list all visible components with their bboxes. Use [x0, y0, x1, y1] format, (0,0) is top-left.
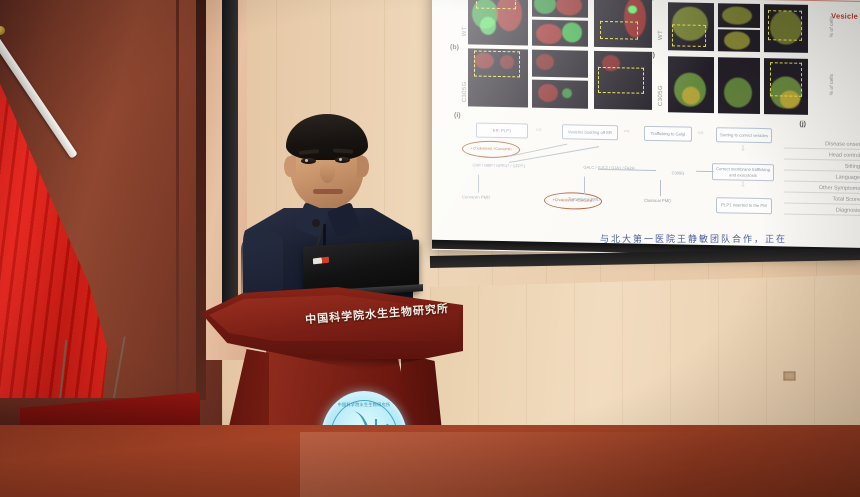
eye-left [301, 158, 316, 164]
flow-box-golgi: Trafficking to Golgi [644, 126, 692, 142]
micrograph-cell [718, 3, 760, 28]
panel-label-b: (b) [450, 44, 459, 51]
eye-glint-left [305, 159, 308, 162]
presentation-photo: (b) (c) (d) WT C305G WT C305G [0, 0, 860, 497]
flow-box-vesicles: Vesicles budding off ER [562, 124, 618, 140]
slide-caption-chinese: 与北大第一医院王静敏团队合作，正在 [600, 232, 787, 245]
ear-left [284, 156, 296, 177]
floor-reflection [300, 432, 860, 497]
axis-label-left: % of cells [829, 16, 835, 38]
gene-set-1: CNP / MBP / GPR37 / GFPT1 [466, 162, 532, 168]
gene-set-3: C305G [660, 170, 696, 176]
micrograph-cell [668, 2, 714, 51]
panel-label-j: (j) [799, 121, 806, 128]
wall-outlet [783, 371, 796, 381]
panel-label-i: (i) [454, 112, 461, 119]
outcome-classical-pmd: Classical PMD [644, 198, 671, 204]
laptop-logo [313, 257, 329, 265]
axis-label-right: % of cells [829, 74, 835, 96]
flow-arrow-icon: ⇨ [624, 128, 630, 135]
flow-box-plp1-pm: PLP1 inserted to the PM [716, 197, 772, 214]
flow-box-sorting: Sorting to correct vesicles [716, 127, 772, 143]
flow-arrow-icon: ⇨ [536, 127, 542, 134]
screen-frame-left [222, 0, 238, 330]
outcome-connexin-pmd: Connexin PMD [462, 194, 490, 200]
eye-right [335, 157, 350, 163]
eye-glint-right [339, 158, 342, 161]
slide-title: Vesicle [831, 11, 858, 21]
micrograph-cell [532, 50, 588, 78]
micrograph-cell [594, 0, 652, 48]
ear-right [357, 156, 369, 177]
micrograph-cell [764, 58, 808, 115]
micrograph-cell [468, 48, 528, 107]
flow-arrow-icon: ⇨ [698, 130, 704, 137]
projection-screen: (b) (c) (d) WT C305G WT C305G [432, 0, 860, 258]
micrograph-row-label-c305g-2: C305G [658, 85, 664, 106]
micrograph-cell [718, 57, 760, 114]
microphone-head [312, 219, 320, 227]
micrograph-grid: (b) (c) (d) WT C305G WT C305G [446, 0, 796, 117]
micrograph-row-label-wt-2: WT [658, 30, 664, 40]
flow-box-exocytosis: Correct membrane trafficking and exocyto… [712, 163, 774, 181]
flow-box-er-plp1: ER: PLP1 [476, 123, 528, 139]
micrograph-cell [532, 0, 588, 18]
micrograph-cell [668, 56, 714, 113]
micrograph-cell [764, 4, 808, 53]
micrograph-cell [718, 29, 760, 52]
micrograph-cell [468, 0, 528, 46]
outcome-transitional-pmd: Transitional PMD [568, 196, 600, 202]
micrograph-cell [532, 80, 588, 109]
nose [320, 162, 335, 183]
micrograph-cell [594, 51, 652, 110]
flow-arrow-icon: ⇩ [740, 182, 746, 189]
emblem-top-text: 中国科学院水生生物研究所 [323, 402, 405, 408]
flow-diagram: (i) ER: PLP1 Vesicles budding off ER Tra… [448, 114, 798, 229]
micrograph-cell [532, 20, 588, 47]
flow-arrow-icon: ⇩ [740, 146, 746, 153]
mouth [313, 189, 343, 194]
wall-seam [176, 0, 179, 440]
